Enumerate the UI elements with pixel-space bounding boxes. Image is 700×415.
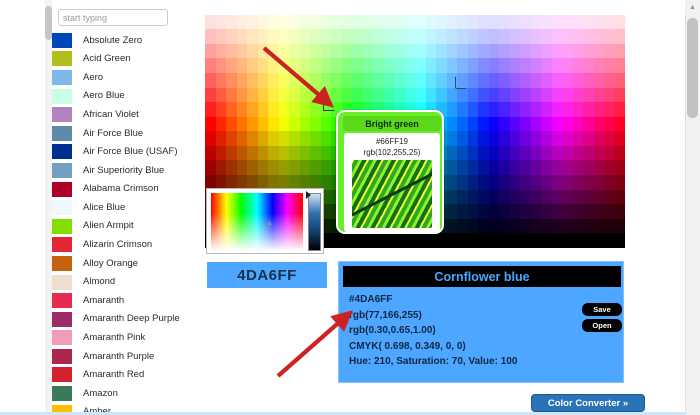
list-item[interactable]: Aero [52,68,200,87]
grid-cell[interactable] [499,102,510,117]
grid-cell[interactable] [615,204,626,219]
grid-cell[interactable] [205,88,216,103]
grid-cell[interactable] [562,204,573,219]
grid-cell[interactable] [604,0,615,15]
grid-cell[interactable] [237,29,248,44]
grid-cell[interactable] [478,146,489,161]
grid-cell[interactable] [489,73,500,88]
grid-cell[interactable] [541,117,552,132]
grid-cell[interactable] [594,219,605,234]
grid-cell[interactable] [573,131,584,146]
grid-cell[interactable] [310,58,321,73]
grid-cell[interactable] [510,190,521,205]
grid-cell[interactable] [541,44,552,59]
grid-cell[interactable] [321,131,332,146]
color-swatch[interactable] [52,275,72,290]
grid-cell[interactable] [300,58,311,73]
grid-cell[interactable] [468,146,479,161]
grid-cell[interactable] [615,0,626,15]
grid-cell[interactable] [615,117,626,132]
grid-cell[interactable] [205,160,216,175]
grid-cell[interactable] [468,102,479,117]
grid-cell[interactable] [499,219,510,234]
grid-cell[interactable] [436,15,447,30]
grid-cell[interactable] [457,117,468,132]
grid-cell[interactable] [552,219,563,234]
grid-cell[interactable] [615,131,626,146]
grid-cell[interactable] [583,146,594,161]
grid-cell[interactable] [321,117,332,132]
grid-cell[interactable] [352,58,363,73]
grid-cell[interactable] [499,29,510,44]
grid-cell[interactable] [615,73,626,88]
list-item[interactable]: Amaranth Purple [52,347,200,366]
list-item[interactable]: Almond [52,273,200,292]
grid-cell[interactable] [552,0,563,15]
color-swatch[interactable] [52,144,72,159]
grid-cell[interactable] [447,44,458,59]
grid-cell[interactable] [468,175,479,190]
grid-cell[interactable] [562,58,573,73]
grid-cell[interactable] [573,160,584,175]
grid-cell[interactable] [594,131,605,146]
grid-cell[interactable] [384,88,395,103]
grid-cell[interactable] [258,102,269,117]
grid-cell[interactable] [216,73,227,88]
grid-cell[interactable] [226,117,237,132]
grid-cell[interactable] [457,0,468,15]
grid-cell[interactable] [541,88,552,103]
grid-cell[interactable] [573,58,584,73]
color-swatch[interactable] [52,126,72,141]
grid-cell[interactable] [604,190,615,205]
grid-cell[interactable] [583,190,594,205]
grid-cell[interactable] [615,44,626,59]
grid-cell[interactable] [394,233,405,248]
color-swatch[interactable] [52,349,72,364]
grid-cell[interactable] [573,146,584,161]
list-item[interactable]: Air Force Blue [52,124,200,143]
grid-cell[interactable] [310,44,321,59]
grid-cell[interactable] [573,117,584,132]
grid-cell[interactable] [300,0,311,15]
grid-cell[interactable] [541,15,552,30]
grid-cell[interactable] [531,190,542,205]
grid-cell[interactable] [583,15,594,30]
grid-cell[interactable] [289,88,300,103]
grid-cell[interactable] [321,88,332,103]
grid-cell[interactable] [510,44,521,59]
grid-cell[interactable] [300,15,311,30]
grid-cell[interactable] [562,219,573,234]
grid-cell[interactable] [279,146,290,161]
grid-cell[interactable] [310,117,321,132]
grid-cell[interactable] [447,204,458,219]
grid-cell[interactable] [510,175,521,190]
grid-cell[interactable] [205,29,216,44]
grid-cell[interactable] [583,219,594,234]
grid-cell[interactable] [226,29,237,44]
list-item[interactable]: Alizarin Crimson [52,236,200,255]
grid-cell[interactable] [615,58,626,73]
grid-cell[interactable] [552,73,563,88]
grid-cell[interactable] [499,233,510,248]
grid-cell[interactable] [216,0,227,15]
grid-cell[interactable] [363,73,374,88]
grid-cell[interactable] [415,233,426,248]
grid-cell[interactable] [247,102,258,117]
grid-cell[interactable] [520,233,531,248]
grid-cell[interactable] [258,88,269,103]
grid-cell[interactable] [541,190,552,205]
grid-cell[interactable] [594,233,605,248]
grid-cell[interactable] [489,29,500,44]
grid-cell[interactable] [373,58,384,73]
grid-cell[interactable] [405,73,416,88]
grid-cell[interactable] [279,44,290,59]
list-item[interactable]: Alloy Orange [52,254,200,273]
list-item[interactable]: Alien Armpit [52,217,200,236]
page-scrollbar-thumb[interactable] [687,18,698,118]
grid-cell[interactable] [363,15,374,30]
grid-cell[interactable] [258,146,269,161]
grid-cell[interactable] [541,146,552,161]
grid-cell[interactable] [541,175,552,190]
grid-cell[interactable] [279,0,290,15]
grid-cell[interactable] [562,160,573,175]
grid-cell[interactable] [300,146,311,161]
grid-cell[interactable] [468,190,479,205]
grid-cell[interactable] [615,233,626,248]
grid-cell[interactable] [289,73,300,88]
grid-cell[interactable] [447,88,458,103]
grid-cell[interactable] [247,15,258,30]
grid-cell[interactable] [247,44,258,59]
grid-cell[interactable] [321,44,332,59]
grid-cell[interactable] [363,88,374,103]
grid-cell[interactable] [205,0,216,15]
grid-cell[interactable] [562,44,573,59]
grid-cell[interactable] [405,44,416,59]
color-swatch[interactable] [52,293,72,308]
grid-cell[interactable] [289,146,300,161]
grid-cell[interactable] [352,15,363,30]
grid-cell[interactable] [310,88,321,103]
grid-cell[interactable] [352,44,363,59]
grid-cell[interactable] [520,44,531,59]
grid-cell[interactable] [237,131,248,146]
grid-cell[interactable] [216,44,227,59]
grid-cell[interactable] [615,190,626,205]
grid-cell[interactable] [468,58,479,73]
grid-cell[interactable] [552,117,563,132]
grid-cell[interactable] [531,146,542,161]
grid-cell[interactable] [562,233,573,248]
grid-cell[interactable] [436,29,447,44]
grid-cell[interactable] [226,88,237,103]
grid-cell[interactable] [615,15,626,30]
grid-cell[interactable] [258,117,269,132]
grid-cell[interactable] [279,160,290,175]
grid-cell[interactable] [520,58,531,73]
grid-cell[interactable] [531,175,542,190]
grid-cell[interactable] [384,58,395,73]
grid-cell[interactable] [520,175,531,190]
grid-cell[interactable] [321,146,332,161]
grid-cell[interactable] [300,88,311,103]
grid-cell[interactable] [478,44,489,59]
grid-cell[interactable] [331,58,342,73]
grid-cell[interactable] [468,233,479,248]
grid-cell[interactable] [415,15,426,30]
grid-cell[interactable] [531,44,542,59]
grid-cell[interactable] [342,0,353,15]
grid-cell[interactable] [615,29,626,44]
grid-cell[interactable] [604,204,615,219]
grid-cell[interactable] [510,204,521,219]
grid-cell[interactable] [321,58,332,73]
grid-cell[interactable] [541,0,552,15]
grid-cell[interactable] [247,29,258,44]
grid-cell[interactable] [541,204,552,219]
grid-cell[interactable] [510,233,521,248]
grid-cell[interactable] [216,102,227,117]
grid-cell[interactable] [289,0,300,15]
grid-cell[interactable] [583,175,594,190]
grid-cell[interactable] [531,15,542,30]
grid-cell[interactable] [468,219,479,234]
grid-cell[interactable] [520,204,531,219]
grid-cell[interactable] [415,44,426,59]
grid-cell[interactable] [237,15,248,30]
grid-cell[interactable] [436,73,447,88]
grid-cell[interactable] [457,29,468,44]
grid-cell[interactable] [394,0,405,15]
grid-cell[interactable] [499,73,510,88]
grid-cell[interactable] [573,204,584,219]
grid-cell[interactable] [279,102,290,117]
grid-cell[interactable] [457,102,468,117]
grid-cell[interactable] [604,219,615,234]
grid-cell[interactable] [583,117,594,132]
grid-cell[interactable] [489,0,500,15]
grid-cell[interactable] [205,73,216,88]
grid-cell[interactable] [604,73,615,88]
color-swatch[interactable] [52,70,72,85]
grid-cell[interactable] [363,44,374,59]
list-item[interactable]: Absolute Zero [52,31,200,50]
grid-cell[interactable] [405,29,416,44]
list-item[interactable]: Alabama Crimson [52,180,200,199]
grid-cell[interactable] [342,58,353,73]
grid-cell[interactable] [300,131,311,146]
grid-cell[interactable] [531,233,542,248]
grid-cell[interactable] [289,117,300,132]
grid-cell[interactable] [531,102,542,117]
mini-picker-saturation-area[interactable]: + [211,193,303,251]
list-item[interactable]: Air Superiority Blue [52,161,200,180]
grid-cell[interactable] [268,117,279,132]
grid-cell[interactable] [457,58,468,73]
grid-cell[interactable] [363,58,374,73]
grid-cell[interactable] [321,15,332,30]
grid-cell[interactable] [342,233,353,248]
grid-cell[interactable] [405,88,416,103]
grid-cell[interactable] [510,117,521,132]
color-swatch[interactable] [52,89,72,104]
grid-cell[interactable] [562,88,573,103]
grid-cell[interactable] [457,88,468,103]
grid-cell[interactable] [594,15,605,30]
grid-cell[interactable] [594,44,605,59]
grid-cell[interactable] [531,29,542,44]
grid-cell[interactable] [258,131,269,146]
grid-cell[interactable] [342,29,353,44]
grid-cell[interactable] [562,131,573,146]
grid-cell[interactable] [489,146,500,161]
grid-cell[interactable] [468,88,479,103]
list-item[interactable]: Amaranth Deep Purple [52,310,200,329]
grid-cell[interactable] [583,131,594,146]
grid-cell[interactable] [226,15,237,30]
grid-cell[interactable] [415,58,426,73]
grid-cell[interactable] [531,88,542,103]
grid-cell[interactable] [447,29,458,44]
grid-cell[interactable] [216,160,227,175]
grid-cell[interactable] [237,0,248,15]
grid-cell[interactable] [216,131,227,146]
grid-cell[interactable] [237,102,248,117]
grid-cell[interactable] [489,88,500,103]
color-swatch[interactable] [52,219,72,234]
grid-cell[interactable] [237,117,248,132]
grid-cell[interactable] [289,131,300,146]
grid-cell[interactable] [321,73,332,88]
grid-cell[interactable] [552,233,563,248]
grid-cell[interactable] [331,0,342,15]
grid-cell[interactable] [321,102,332,117]
grid-cell[interactable] [258,160,269,175]
grid-cell[interactable] [447,146,458,161]
grid-cell[interactable] [352,233,363,248]
grid-cell[interactable] [562,0,573,15]
grid-cell[interactable] [237,160,248,175]
grid-cell[interactable] [478,15,489,30]
grid-cell[interactable] [352,0,363,15]
grid-cell[interactable] [604,102,615,117]
grid-cell[interactable] [520,131,531,146]
grid-cell[interactable] [342,88,353,103]
grid-cell[interactable] [499,0,510,15]
grid-cell[interactable] [457,190,468,205]
grid-cell[interactable] [499,44,510,59]
grid-cell[interactable] [562,102,573,117]
grid-cell[interactable] [510,29,521,44]
grid-cell[interactable] [552,29,563,44]
grid-cell[interactable] [499,160,510,175]
grid-cell[interactable] [426,58,437,73]
grid-cell[interactable] [499,15,510,30]
grid-cell[interactable] [279,131,290,146]
grid-cell[interactable] [499,175,510,190]
grid-cell[interactable] [310,73,321,88]
grid-cell[interactable] [520,102,531,117]
grid-cell[interactable] [604,175,615,190]
grid-cell[interactable] [394,44,405,59]
grid-cell[interactable] [216,88,227,103]
grid-cell[interactable] [384,29,395,44]
grid-cell[interactable] [447,190,458,205]
grid-cell[interactable] [321,160,332,175]
grid-cell[interactable] [520,88,531,103]
grid-cell[interactable] [531,117,542,132]
grid-cell[interactable] [583,0,594,15]
grid-cell[interactable] [541,219,552,234]
grid-cell[interactable] [436,233,447,248]
grid-cell[interactable] [510,160,521,175]
list-item[interactable]: Amazon [52,384,200,403]
grid-cell[interactable] [468,131,479,146]
grid-cell[interactable] [541,102,552,117]
grid-cell[interactable] [279,58,290,73]
grid-cell[interactable] [237,44,248,59]
grid-cell[interactable] [594,0,605,15]
grid-cell[interactable] [583,88,594,103]
grid-cell[interactable] [552,146,563,161]
grid-cell[interactable] [510,73,521,88]
grid-cell[interactable] [384,233,395,248]
grid-cell[interactable] [541,58,552,73]
grid-cell[interactable] [226,44,237,59]
grid-cell[interactable] [426,44,437,59]
grid-cell[interactable] [216,117,227,132]
grid-cell[interactable] [489,219,500,234]
grid-cell[interactable] [405,58,416,73]
grid-cell[interactable] [562,117,573,132]
list-item[interactable]: Aero Blue [52,87,200,106]
grid-cell[interactable] [384,73,395,88]
list-item[interactable]: Amaranth Red [52,366,200,385]
list-item[interactable]: Air Force Blue (USAF) [52,143,200,162]
grid-cell[interactable] [258,73,269,88]
grid-cell[interactable] [247,0,258,15]
grid-cell[interactable] [594,160,605,175]
grid-cell[interactable] [426,15,437,30]
grid-cell[interactable] [489,15,500,30]
grid-cell[interactable] [552,102,563,117]
grid-cell[interactable] [594,88,605,103]
grid-cell[interactable] [604,117,615,132]
grid-cell[interactable] [342,73,353,88]
grid-cell[interactable] [247,88,258,103]
grid-cell[interactable] [216,29,227,44]
grid-cell[interactable] [594,73,605,88]
grid-cell[interactable] [289,29,300,44]
color-swatch[interactable] [52,33,72,48]
grid-cell[interactable] [268,15,279,30]
grid-cell[interactable] [499,58,510,73]
grid-cell[interactable] [247,146,258,161]
grid-cell[interactable] [489,44,500,59]
grid-cell[interactable] [457,44,468,59]
grid-cell[interactable] [562,29,573,44]
grid-cell[interactable] [373,73,384,88]
grid-cell[interactable] [352,29,363,44]
grid-cell[interactable] [226,146,237,161]
grid-cell[interactable] [352,88,363,103]
grid-cell[interactable] [520,73,531,88]
search-input[interactable] [58,9,168,26]
